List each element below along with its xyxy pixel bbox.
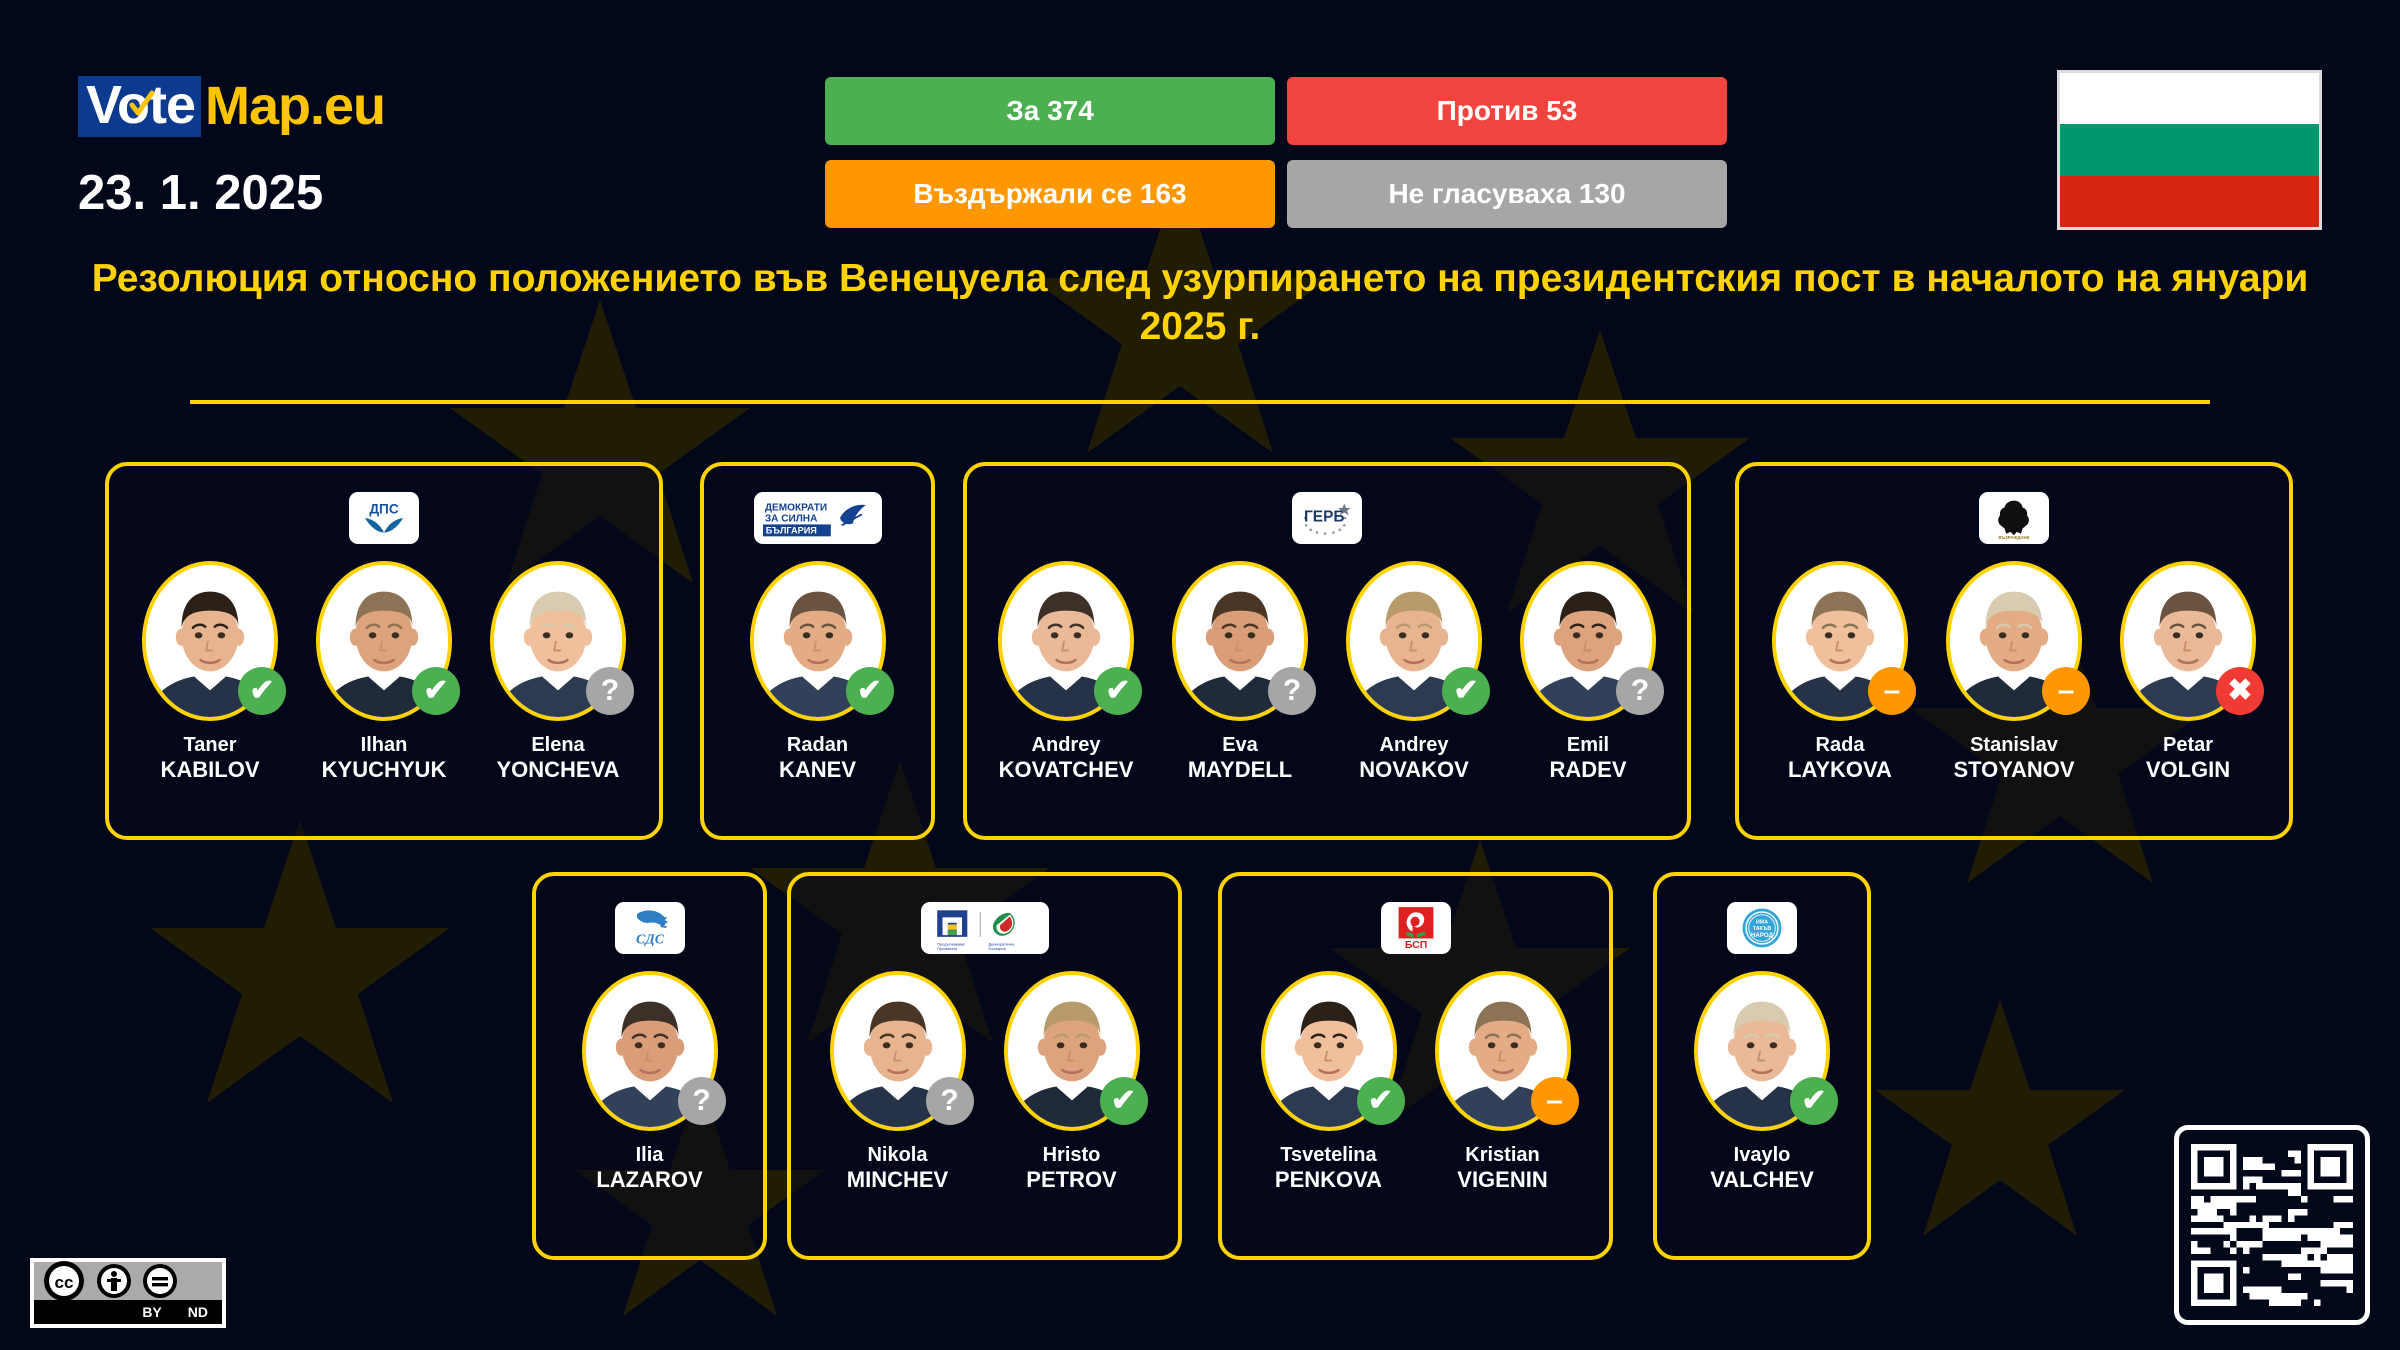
- member-list: ✔TsvetelinaPENKOVA –KristianVIGENIN: [1222, 971, 1609, 1194]
- vote-tallies: За 374 Против 53 Въздържали се 163 Не гл…: [825, 77, 1715, 228]
- member-portrait-wrap: ✔: [1261, 971, 1397, 1131]
- svg-text:Промяната: Промяната: [937, 946, 958, 951]
- member-last-name: KOVATCHEV: [999, 757, 1134, 784]
- party-logo-dsb-icon[interactable]: ДЕМОКРАТИ ЗА СИЛНА БЪЛГАРИЯ: [754, 492, 882, 544]
- logo-vote-part: Vote: [78, 76, 201, 137]
- svg-text:България: България: [988, 946, 1005, 951]
- member-last-name: VIGENIN: [1457, 1167, 1547, 1194]
- member-last-name: MAYDELL: [1188, 757, 1292, 784]
- vote-badge-for-icon: ✔: [846, 667, 894, 715]
- svg-text:ДЕМОКРАТИ: ДЕМОКРАТИ: [764, 503, 826, 514]
- svg-text:БЪЛГАРИЯ: БЪЛГАРИЯ: [765, 526, 816, 536]
- member-name: KristianVIGENIN: [1457, 1143, 1547, 1194]
- cc-by-label: BY: [142, 1304, 161, 1320]
- member[interactable]: –KristianVIGENIN: [1427, 971, 1579, 1194]
- member-first-name: Elena: [496, 733, 619, 757]
- member-name: ElenaYONCHEVA: [496, 733, 619, 784]
- member-list: ✔TanerKABILOV ✔IlhanKYUCHYUK ?ElenaYONCH…: [109, 561, 659, 784]
- member-portrait-wrap: –: [1772, 561, 1908, 721]
- member-last-name: KABILOV: [161, 757, 260, 784]
- member[interactable]: ✔IlhanKYUCHYUK: [308, 561, 460, 784]
- member-name: AndreyNOVAKOV: [1359, 733, 1469, 784]
- member-last-name: PETROV: [1026, 1167, 1116, 1194]
- member-name: PetarVOLGIN: [2146, 733, 2230, 784]
- member-name: AndreyKOVATCHEV: [999, 733, 1134, 784]
- member-name: HristoPETROV: [1026, 1143, 1116, 1194]
- member[interactable]: ?IliaLAZAROV: [574, 971, 726, 1194]
- member-first-name: Rada: [1788, 733, 1892, 757]
- member-list: ?NikolaMINCHEV ✔HristoPETROV: [791, 971, 1178, 1194]
- member-last-name: YONCHEVA: [496, 757, 619, 784]
- member-last-name: VALCHEV: [1710, 1167, 1814, 1194]
- member-first-name: Andrey: [999, 733, 1134, 757]
- member[interactable]: –StanislavSTOYANOV: [1938, 561, 2090, 784]
- member-name: TsvetelinaPENKOVA: [1275, 1143, 1382, 1194]
- member-first-name: Taner: [161, 733, 260, 757]
- party-logo-dps-icon[interactable]: ДПС: [349, 492, 419, 544]
- member-last-name: VOLGIN: [2146, 757, 2230, 784]
- member-first-name: Radan: [779, 733, 856, 757]
- cc-by-person-icon: [96, 1263, 132, 1299]
- bulgaria-flag: [2057, 70, 2322, 230]
- member-portrait-wrap: ?: [490, 561, 626, 721]
- vote-badge-novote-icon: ?: [586, 667, 634, 715]
- member-name: TanerKABILOV: [161, 733, 260, 784]
- party-logo-sds-icon[interactable]: СДС: [615, 902, 685, 954]
- member-last-name: LAZAROV: [596, 1167, 702, 1194]
- party-card-itn: ИМА ТАКЪВ НАРОД ✔IvayloVALCHEV: [1653, 872, 1871, 1260]
- party-card-bsp: БСП ✔TsvetelinaPENKOVA –KristianVIGENIN: [1218, 872, 1613, 1260]
- member-first-name: Eva: [1188, 733, 1292, 757]
- vote-badge-for-icon: ✔: [238, 667, 286, 715]
- vote-badge-novote-icon: ?: [926, 1077, 974, 1125]
- vote-badge-abstain-icon: –: [2042, 667, 2090, 715]
- member-name: RadaLAYKOVA: [1788, 733, 1892, 784]
- tally-for[interactable]: За 374: [825, 77, 1275, 145]
- cc-nd-label: ND: [188, 1304, 208, 1320]
- member[interactable]: ?NikolaMINCHEV: [822, 971, 974, 1194]
- member-portrait-wrap: ?: [582, 971, 718, 1131]
- qr-code-image: [2191, 1142, 2353, 1308]
- svg-text:ТАКЪВ: ТАКЪВ: [1753, 926, 1772, 932]
- member-portrait-wrap: ✔: [142, 561, 278, 721]
- member[interactable]: ✔AndreyNOVAKOV: [1338, 561, 1490, 784]
- svg-text:ВЪЗРАЖДАНЕ: ВЪЗРАЖДАНЕ: [1998, 535, 2029, 540]
- cc-circle-icon: cc: [42, 1259, 86, 1303]
- party-card-pp-db: Продължаваме Промяната Демократична Бълг…: [787, 872, 1182, 1260]
- svg-text:ДПС: ДПС: [369, 501, 398, 516]
- member-first-name: Emil: [1549, 733, 1626, 757]
- member-name: IliaLAZAROV: [596, 1143, 702, 1194]
- vote-badge-for-icon: ✔: [1100, 1077, 1148, 1125]
- member-portrait-wrap: ✔: [1004, 971, 1140, 1131]
- member[interactable]: ?ElenaYONCHEVA: [482, 561, 634, 784]
- member-name: IvayloVALCHEV: [1710, 1143, 1814, 1194]
- svg-text:ИМА: ИМА: [1756, 920, 1768, 926]
- member[interactable]: ✔AndreyKOVATCHEV: [990, 561, 1142, 784]
- member-list: ✔IvayloVALCHEV: [1657, 971, 1867, 1194]
- member-name: EmilRADEV: [1549, 733, 1626, 784]
- logo-map-part: Map.eu: [201, 79, 385, 133]
- tally-against[interactable]: Против 53: [1287, 77, 1727, 145]
- member-first-name: Petar: [2146, 733, 2230, 757]
- vote-badge-abstain-icon: –: [1868, 667, 1916, 715]
- member-last-name: LAYKOVA: [1788, 757, 1892, 784]
- member-portrait-wrap: ✔: [1694, 971, 1830, 1131]
- member[interactable]: ✔IvayloVALCHEV: [1686, 971, 1838, 1194]
- svg-text:СДС: СДС: [635, 933, 664, 948]
- member-first-name: Ivaylo: [1710, 1143, 1814, 1167]
- check-icon: [129, 89, 155, 119]
- vote-badge-against-icon: ✖: [2216, 667, 2264, 715]
- member[interactable]: ?EvaMAYDELL: [1164, 561, 1316, 784]
- svg-text:БСП: БСП: [1404, 940, 1426, 951]
- tally-novote[interactable]: Не гласуваха 130: [1287, 160, 1727, 228]
- svg-text:НАРОД: НАРОД: [1751, 932, 1774, 939]
- member-portrait-wrap: ?: [1520, 561, 1656, 721]
- member-last-name: NOVAKOV: [1359, 757, 1469, 784]
- svg-text:cc: cc: [55, 1273, 74, 1292]
- member-last-name: KYUCHYUK: [322, 757, 447, 784]
- member-list: –RadaLAYKOVA –StanislavSTOYANOV ✖PetarVO…: [1739, 561, 2289, 784]
- party-card-gerb: ГЕРБ ✔AndreyKOVATCHEV ?EvaMAYDELL: [963, 462, 1691, 840]
- vote-badge-novote-icon: ?: [1616, 667, 1664, 715]
- qr-code[interactable]: [2174, 1125, 2370, 1325]
- page-title: Резолюция относно положението във Венецу…: [90, 255, 2310, 350]
- party-logo-bsp-icon[interactable]: БСП: [1381, 902, 1451, 954]
- vote-badge-for-icon: ✔: [1357, 1077, 1405, 1125]
- member[interactable]: ✔HristoPETROV: [996, 971, 1148, 1194]
- member-portrait-wrap: ✔: [1346, 561, 1482, 721]
- party-logo-pp-db-icon[interactable]: Продължаваме Промяната Демократична Бълг…: [921, 902, 1049, 954]
- member-list: ?IliaLAZAROV: [536, 971, 763, 1194]
- member-portrait-wrap: ✔: [998, 561, 1134, 721]
- member-list: ✔AndreyKOVATCHEV ?EvaMAYDELL ✔AndreyNOVA…: [967, 561, 1687, 784]
- member-portrait-wrap: –: [1435, 971, 1571, 1131]
- member-last-name: STOYANOV: [1953, 757, 2074, 784]
- party-card-sds: СДС ?IliaLAZAROV: [532, 872, 767, 1260]
- member-first-name: Tsvetelina: [1275, 1143, 1382, 1167]
- vote-badge-for-icon: ✔: [1442, 667, 1490, 715]
- member[interactable]: –RadaLAYKOVA: [1764, 561, 1916, 784]
- member-portrait-wrap: ✔: [316, 561, 452, 721]
- member-portrait-wrap: ?: [830, 971, 966, 1131]
- member-first-name: Kristian: [1457, 1143, 1547, 1167]
- svg-text:ЗА СИЛНА: ЗА СИЛНА: [764, 514, 817, 525]
- member-last-name: RADEV: [1549, 757, 1626, 784]
- vote-badge-abstain-icon: –: [1531, 1077, 1579, 1125]
- vote-badge-novote-icon: ?: [678, 1077, 726, 1125]
- member-last-name: KANEV: [779, 757, 856, 784]
- member-portrait-wrap: ✔: [750, 561, 886, 721]
- header: Vote Map.eu 23. 1. 2025 За 374 Против 53…: [0, 0, 2400, 260]
- party-card-vazrazhdane: ВЪЗРАЖДАНЕ –RadaLAYKOVA –StanislavSTOYAN…: [1735, 462, 2293, 840]
- member[interactable]: ✖PetarVOLGIN: [2112, 561, 2264, 784]
- member-name: RadanKANEV: [779, 733, 856, 784]
- vote-badge-for-icon: ✔: [412, 667, 460, 715]
- member-name: EvaMAYDELL: [1188, 733, 1292, 784]
- tally-abstain[interactable]: Въздържали се 163: [825, 160, 1275, 228]
- vote-date: 23. 1. 2025: [78, 165, 323, 221]
- vote-badge-for-icon: ✔: [1790, 1077, 1838, 1125]
- member[interactable]: ?EmilRADEV: [1512, 561, 1664, 784]
- title-divider: [190, 400, 2210, 404]
- party-logo-vazrazhdane-icon[interactable]: ВЪЗРАЖДАНЕ: [1979, 492, 2049, 544]
- member[interactable]: ✔TanerKABILOV: [134, 561, 286, 784]
- party-logo-gerb-icon[interactable]: ГЕРБ: [1292, 492, 1362, 544]
- member[interactable]: ✔TsvetelinaPENKOVA: [1253, 971, 1405, 1194]
- party-card-dps: ДПС ✔TanerKABILOV ✔IlhanKYUCHYUK: [105, 462, 663, 840]
- member-first-name: Stanislav: [1953, 733, 2074, 757]
- member-name: NikolaMINCHEV: [847, 1143, 948, 1194]
- member-list: ✔RadanKANEV: [704, 561, 931, 784]
- member-last-name: MINCHEV: [847, 1167, 948, 1194]
- party-logo-itn-icon[interactable]: ИМА ТАКЪВ НАРОД: [1727, 902, 1797, 954]
- member-first-name: Hristo: [1026, 1143, 1116, 1167]
- site-logo[interactable]: Vote Map.eu: [78, 75, 385, 137]
- member-portrait-wrap: ?: [1172, 561, 1308, 721]
- member-first-name: Ilhan: [322, 733, 447, 757]
- party-card-dsb: ДЕМОКРАТИ ЗА СИЛНА БЪЛГАРИЯ ✔RadanKANEV: [700, 462, 935, 840]
- member-first-name: Ilia: [596, 1143, 702, 1167]
- member-first-name: Andrey: [1359, 733, 1469, 757]
- svg-text:ГЕРБ: ГЕРБ: [1304, 509, 1344, 526]
- member[interactable]: ✔RadanKANEV: [742, 561, 894, 784]
- creative-commons-badge[interactable]: cc BY ND: [30, 1258, 226, 1328]
- member-last-name: PENKOVA: [1275, 1167, 1382, 1194]
- vote-badge-novote-icon: ?: [1268, 667, 1316, 715]
- member-name: IlhanKYUCHYUK: [322, 733, 447, 784]
- member-name: StanislavSTOYANOV: [1953, 733, 2074, 784]
- member-first-name: Nikola: [847, 1143, 948, 1167]
- cc-nd-equals-icon: [142, 1263, 178, 1299]
- member-portrait-wrap: –: [1946, 561, 2082, 721]
- vote-badge-for-icon: ✔: [1094, 667, 1142, 715]
- member-portrait-wrap: ✖: [2120, 561, 2256, 721]
